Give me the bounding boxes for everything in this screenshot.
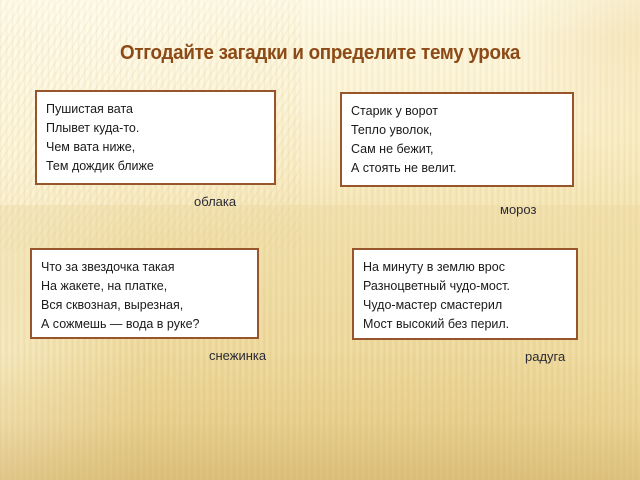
riddle-line: Старик у ворот (351, 102, 563, 121)
riddle-box-1: Пушистая вата Плывет куда-то. Чем вата н… (35, 90, 276, 185)
riddle-line: Мост высокий без перил. (363, 315, 567, 334)
riddle-answer-1: облака (194, 194, 236, 209)
riddle-box-2: Старик у ворот Тепло уволок, Сам не бежи… (340, 92, 574, 187)
background-vignette (0, 0, 640, 480)
riddle-box-4: На минуту в землю врос Разноцветный чудо… (352, 248, 578, 340)
slide-title: Отгодайте загадки и определите тему урок… (19, 42, 621, 65)
riddle-answer-4: радуга (525, 349, 565, 364)
presentation-slide: Отгодайте загадки и определите тему урок… (0, 0, 640, 480)
riddle-line: Чудо-мастер смастерил (363, 296, 567, 315)
riddle-line: А стоять не велит. (351, 159, 563, 178)
riddle-answer-2: мороз (500, 202, 536, 217)
riddle-line: Чем вата ниже, (46, 138, 265, 157)
riddle-line: Тепло уволок, (351, 121, 563, 140)
riddle-line: Разноцветный чудо-мост. (363, 277, 567, 296)
riddle-line: На минуту в землю врос (363, 258, 567, 277)
riddle-line: А сожмешь — вода в руке? (41, 315, 248, 334)
riddle-line: На жакете, на платке, (41, 277, 248, 296)
riddle-line: Сам не бежит, (351, 140, 563, 159)
riddle-box-3: Что за звездочка такая На жакете, на пла… (30, 248, 259, 339)
riddle-line: Плывет куда-то. (46, 119, 265, 138)
riddle-answer-3: снежинка (209, 348, 266, 363)
riddle-line: Что за звездочка такая (41, 258, 248, 277)
riddle-line: Вся сквозная, вырезная, (41, 296, 248, 315)
riddle-line: Тем дождик ближе (46, 157, 265, 176)
riddle-line: Пушистая вата (46, 100, 265, 119)
